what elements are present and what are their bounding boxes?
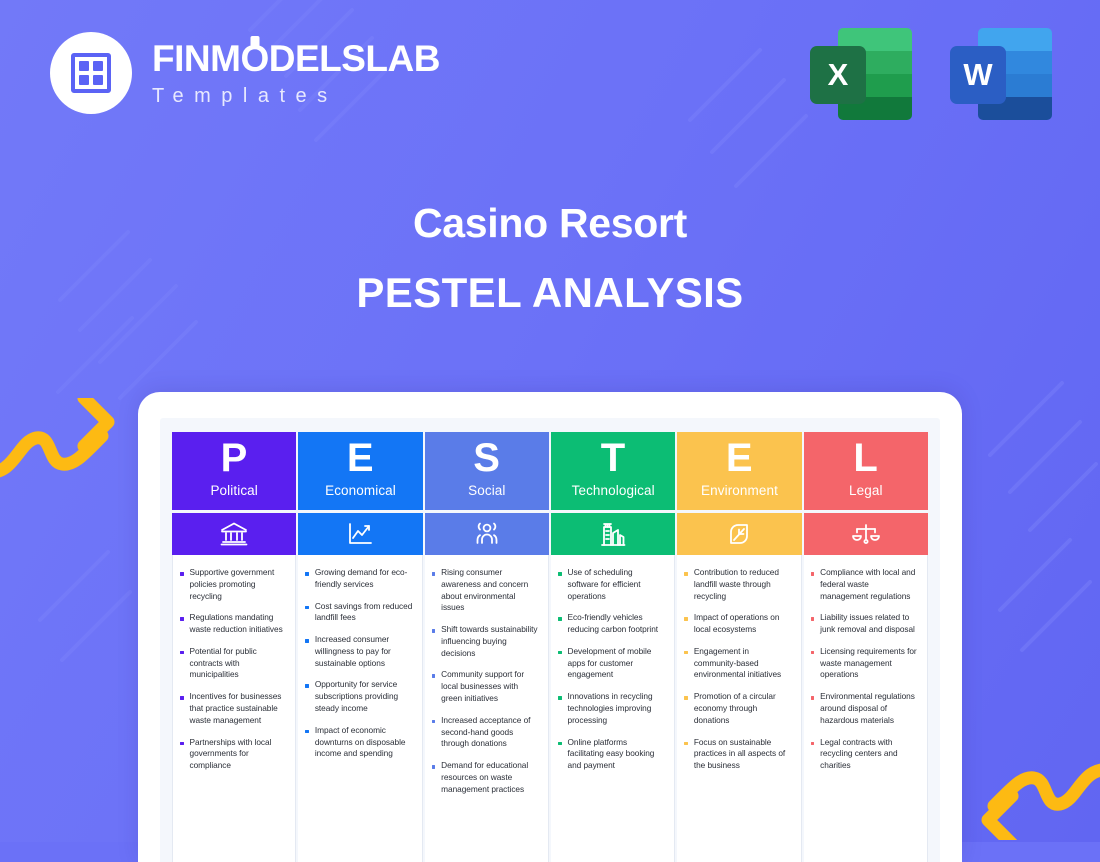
bullet-marker [180,617,184,621]
list-item: Eco-friendly vehicles reducing carbon fo… [558,612,665,636]
page-subtitle: PESTEL ANALYSIS [0,269,1100,317]
bullet-marker [811,617,815,621]
column-letter: S [473,438,500,478]
pestel-column-economical: E Economical Growing demand for eco-frie… [298,432,422,862]
list-item-text: Growing demand for eco-friendly services [315,567,413,591]
list-item: Compliance with local and federal waste … [811,567,918,602]
grid-squares-icon [71,53,111,93]
column-letter: P [221,438,248,478]
column-letter: E [726,438,753,478]
factory-building-icon [551,513,675,555]
bullet-marker [684,651,688,655]
list-item: Cost savings from reduced landfill fees [305,601,412,625]
column-header-political[interactable]: P Political [172,432,296,510]
bullet-marker [305,606,309,610]
column-body: Supportive government policies promoting… [172,555,296,862]
list-item-text: Potential for public contracts with muni… [190,646,287,681]
list-item-text: Engagement in community-based environmen… [694,646,792,681]
list-item-text: Cost savings from reduced landfill fees [315,601,413,625]
bullet-marker [684,617,688,621]
list-item: Increased acceptance of second-hand good… [432,715,539,750]
list-item-text: Demand for educational resources on wast… [441,760,539,795]
device-screen: P Political Supportive government polici… [160,418,940,862]
list-item: Impact of economic downturns on disposab… [305,725,412,760]
bullet-marker [558,651,562,655]
bullet-marker [811,651,815,655]
column-letter: E [347,438,374,478]
bullet-marker [432,572,436,576]
word-badge: W [950,46,1006,104]
brand-name-part1: FINM [152,38,240,79]
list-item-text: Increased acceptance of second-hand good… [441,715,539,750]
column-body: Growing demand for eco-friendly services… [298,555,422,862]
bullet-marker [432,629,436,633]
list-item: Shift towards sustainability influencing… [432,624,539,659]
list-item: Opportunity for service subscriptions pr… [305,679,412,714]
word-icon[interactable]: W [950,28,1052,120]
column-body: Contribution to reduced landfill waste t… [677,555,801,862]
list-item: Licensing requirements for waste managem… [811,646,918,681]
list-item: Demand for educational resources on wast… [432,760,539,795]
list-item: Online platforms facilitating easy booki… [558,737,665,772]
list-item-text: Supportive government policies promoting… [190,567,287,602]
list-item: Rising consumer awareness and concern ab… [432,567,539,614]
list-item-text: Impact of economic downturns on disposab… [315,725,413,760]
list-item: Environmental regulations around disposa… [811,691,918,726]
list-item-text: Compliance with local and federal waste … [820,567,918,602]
list-item: Development of mobile apps for customer … [558,646,665,681]
bullet-marker [684,572,688,576]
list-item-text: Development of mobile apps for customer … [568,646,666,681]
bullet-marker [305,730,309,734]
list-item-text: Use of scheduling software for efficient… [568,567,666,602]
page-title: Casino Resort [0,200,1100,247]
bullet-marker [558,696,562,700]
list-item: Community support for local businesses w… [432,669,539,704]
list-item-text: Liability issues related to junk removal… [820,612,918,636]
list-item: Focus on sustainable practices in all as… [684,737,791,772]
bullet-marker [432,674,436,678]
pestel-column-legal: L Legal Compliance [804,432,928,862]
bullet-marker [558,572,562,576]
list-item: Use of scheduling software for efficient… [558,567,665,602]
column-label: Social [468,483,505,498]
bullet-marker [811,742,815,746]
list-item-text: Rising consumer awareness and concern ab… [441,567,539,614]
bullet-marker [684,696,688,700]
bullet-marker [305,572,309,576]
column-header-social[interactable]: S Social [425,432,549,510]
list-item-text: Licensing requirements for waste managem… [820,646,918,681]
list-item: Potential for public contracts with muni… [180,646,286,681]
column-label: Economical [325,483,396,498]
bullet-marker [180,572,184,576]
scales-justice-icon [804,513,928,555]
list-item-text: Shift towards sustainability influencing… [441,624,539,659]
bullet-marker [305,639,309,643]
list-item: Incentives for businesses that practice … [180,691,286,726]
excel-icon[interactable]: X [810,28,912,120]
list-item: Partnerships with local governments for … [180,737,286,772]
brand-name-o: O [240,40,268,77]
squiggly-arrow-up-right-icon [0,398,132,494]
pestel-column-technological: T Technological Us [551,432,675,862]
list-item: Legal contracts with recycling centers a… [811,737,918,772]
bullet-marker [811,572,815,576]
bullet-marker [180,696,184,700]
column-label: Environment [701,483,778,498]
list-item-text: Contribution to reduced landfill waste t… [694,567,792,602]
office-file-format-icons: X W [810,28,1052,120]
column-header-legal[interactable]: L Legal [804,432,928,510]
bullet-marker [558,742,562,746]
list-item-text: Promotion of a circular economy through … [694,691,792,726]
bullet-marker [305,684,309,688]
list-item-text: Innovations in recycling technologies im… [568,691,666,726]
column-header-environment[interactable]: E Environment [677,432,801,510]
logo-circle [50,32,132,114]
column-label: Technological [572,483,655,498]
list-item: Supportive government policies promoting… [180,567,286,602]
bullet-marker [432,720,436,724]
device-frame: P Political Supportive government polici… [138,392,962,862]
bullet-marker [684,742,688,746]
column-body: Rising consumer awareness and concern ab… [425,555,549,862]
column-body: Compliance with local and federal waste … [804,555,928,862]
list-item-text: Legal contracts with recycling centers a… [820,737,918,772]
list-item: Liability issues related to junk removal… [811,612,918,636]
list-item-text: Incentives for businesses that practice … [190,691,287,726]
list-item-text: Increased consumer willingness to pay fo… [315,634,413,669]
bullet-marker [811,696,815,700]
column-header-technological[interactable]: T Technological [551,432,675,510]
list-item: Impact of operations on local ecosystems [684,612,791,636]
leaf-icon [677,513,801,555]
list-item: Engagement in community-based environmen… [684,646,791,681]
list-item-text: Impact of operations on local ecosystems [694,612,792,636]
squiggly-arrow-down-left-icon [962,740,1100,840]
column-label: Political [210,483,257,498]
brand-name-part2: DELSLAB [269,38,440,79]
bullet-marker [558,617,562,621]
list-item-text: Eco-friendly vehicles reducing carbon fo… [568,612,666,636]
column-body: Use of scheduling software for efficient… [551,555,675,862]
list-item-text: Partnerships with local governments for … [190,737,287,772]
column-header-economical[interactable]: E Economical [298,432,422,510]
brand-subtitle: Templates [152,86,440,106]
list-item-text: Environmental regulations around disposa… [820,691,918,726]
page-header: FINMODELSLAB Templates X W [0,0,1100,150]
column-letter: L [853,438,878,478]
list-item-text: Online platforms facilitating easy booki… [568,737,666,772]
pestel-table: P Political Supportive government polici… [172,432,928,862]
pestel-column-environment: E Environment Contribution to reduced la… [677,432,801,862]
excel-badge: X [810,46,866,104]
title-block: Casino Resort PESTEL ANALYSIS [0,200,1100,317]
pestel-column-political: P Political Supportive government polici… [172,432,296,862]
list-item-text: Regulations mandating waste reduction in… [190,612,287,636]
list-item: Regulations mandating waste reduction in… [180,612,286,636]
bank-government-icon [172,513,296,555]
list-item: Promotion of a circular economy through … [684,691,791,726]
list-item-text: Focus on sustainable practices in all as… [694,737,792,772]
people-group-icon [425,513,549,555]
brand-text: FINMODELSLAB Templates [152,40,440,106]
column-label: Legal [849,483,883,498]
column-letter: T [601,438,626,478]
list-item: Innovations in recycling technologies im… [558,691,665,726]
list-item-text: Opportunity for service subscriptions pr… [315,679,413,714]
list-item: Increased consumer willingness to pay fo… [305,634,412,669]
line-chart-icon [298,513,422,555]
list-item: Growing demand for eco-friendly services [305,567,412,591]
brand-name: FINMODELSLAB [152,40,440,77]
list-item: Contribution to reduced landfill waste t… [684,567,791,602]
bullet-marker [180,651,184,655]
brand-logo[interactable]: FINMODELSLAB Templates [50,32,440,114]
list-item-text: Community support for local businesses w… [441,669,539,704]
bullet-marker [432,765,436,769]
bullet-marker [180,742,184,746]
pestel-column-social: S Social Rising co [425,432,549,862]
